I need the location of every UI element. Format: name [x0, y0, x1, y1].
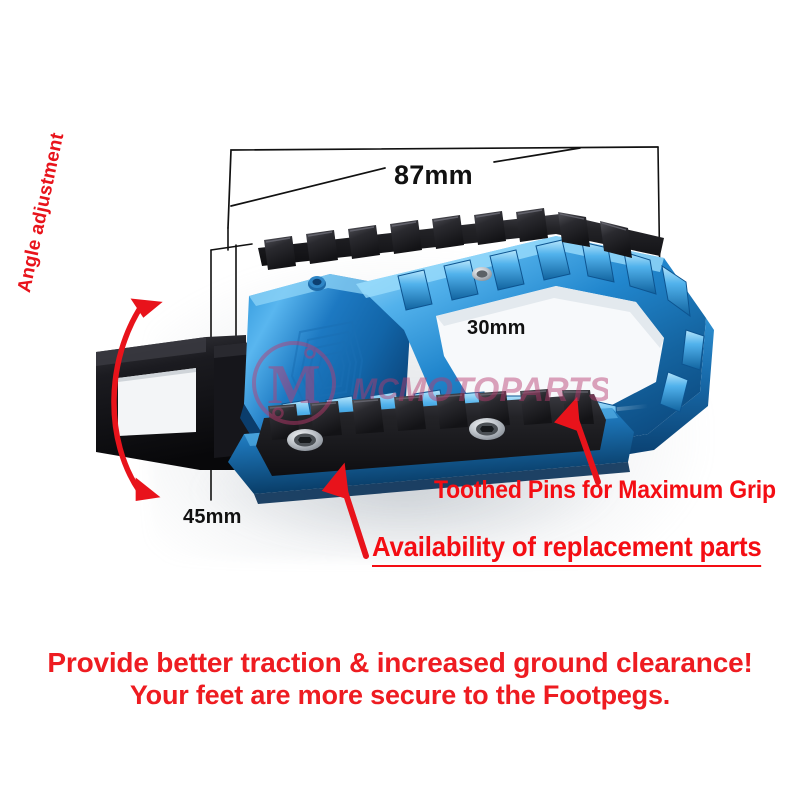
- bottom-caption: Provide better traction & increased grou…: [0, 646, 800, 712]
- annotation-toothed-pins: Toothed Pins for Maximum Grip: [434, 476, 776, 505]
- dimension-label-length: 87mm: [394, 160, 473, 191]
- caption-line-2: Your feet are more secure to the Footpeg…: [0, 679, 800, 712]
- dimension-label-width: 30mm: [467, 317, 526, 340]
- annotation-replacement-parts: Availability of replacement parts: [372, 531, 762, 567]
- caption-line-1: Provide better traction & increased grou…: [0, 646, 800, 679]
- dimension-label-height: 45mm: [183, 506, 242, 529]
- product-infographic-canvas: M MC MOTOPARTS 87mm 30mm 45mm Angle adju…: [0, 0, 800, 800]
